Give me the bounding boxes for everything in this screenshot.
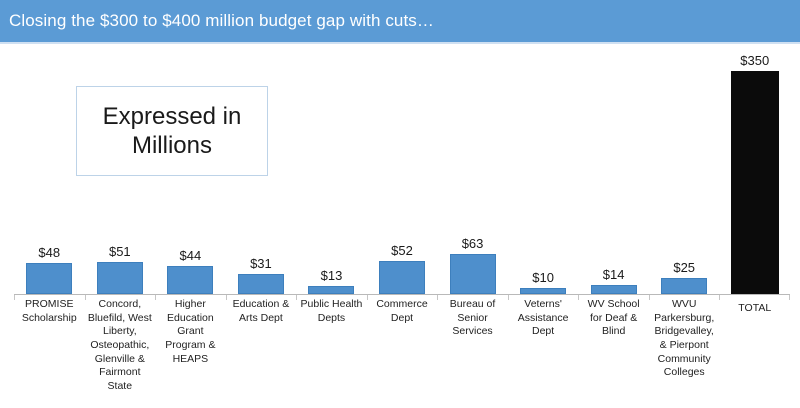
category-label-cell: WVU Parkersburg, Bridgevalley, & Pierpon… xyxy=(649,298,720,380)
bar-slot: $350 xyxy=(719,42,790,294)
bar-value-label: $10 xyxy=(532,270,554,285)
bar xyxy=(97,262,143,294)
category-label: TOTAL xyxy=(738,302,771,316)
bar xyxy=(379,261,425,294)
bar-slot: $44 xyxy=(155,42,226,294)
category-label: Education & Arts Dept xyxy=(228,298,295,325)
bar-slot: $25 xyxy=(649,42,720,294)
category-label-cell: Education & Arts Dept xyxy=(226,298,297,326)
bar-slot: $48 xyxy=(14,42,85,294)
category-label-cell: PROMISE Scholarship xyxy=(14,298,85,326)
title-banner: Closing the $300 to $400 million budget … xyxy=(0,0,800,42)
bar-slot: $51 xyxy=(85,42,156,294)
bar xyxy=(308,286,354,294)
category-label: Concord, Bluefild, West Liberty, Osteopa… xyxy=(87,298,154,393)
bar xyxy=(238,274,284,294)
category-label: Commerce Dept xyxy=(369,298,436,325)
bar xyxy=(26,263,72,294)
category-label-cell: Concord, Bluefild, West Liberty, Osteopa… xyxy=(85,298,156,394)
category-label-cell: WV School for Deaf & Blind xyxy=(578,298,649,339)
bar-value-label: $52 xyxy=(391,243,413,258)
page-title: Closing the $300 to $400 million budget … xyxy=(0,11,434,31)
bar-value-label: $31 xyxy=(250,256,272,271)
bar-series: $48$51$44$31$13$52$63$10$14$25$350 xyxy=(14,42,790,294)
bar-slot: $10 xyxy=(508,42,579,294)
category-label: Veterns' Assistance Dept xyxy=(510,298,577,339)
bar-value-label: $51 xyxy=(109,244,131,259)
bar-value-label: $48 xyxy=(38,245,60,260)
bar-value-label: $44 xyxy=(180,248,202,263)
bar-value-label: $63 xyxy=(462,236,484,251)
bar-slot: $14 xyxy=(578,42,649,294)
category-label-cell: Commerce Dept xyxy=(367,298,438,326)
category-label: Public Health Depts xyxy=(298,298,365,325)
category-label-cell: Public Health Depts xyxy=(296,298,367,326)
category-label: WV School for Deaf & Blind xyxy=(580,298,647,339)
category-label-cell: TOTAL xyxy=(719,298,790,316)
category-label: Higher Education Grant Program & HEAPS xyxy=(157,298,224,366)
bar-slot: $52 xyxy=(367,42,438,294)
bar xyxy=(167,266,213,294)
bar xyxy=(591,285,637,294)
bar-total xyxy=(731,71,779,294)
bar-value-label: $350 xyxy=(740,53,769,68)
slide-canvas: Closing the $300 to $400 million budget … xyxy=(0,0,800,408)
bar-slot: $13 xyxy=(296,42,367,294)
bar xyxy=(661,278,707,294)
bar-value-label: $13 xyxy=(321,268,343,283)
category-label-cell: Veterns' Assistance Dept xyxy=(508,298,579,339)
bar-slot: $31 xyxy=(226,42,297,294)
category-label-cell: Bureau of Senior Services xyxy=(437,298,508,339)
category-label: Bureau of Senior Services xyxy=(439,298,506,339)
category-label: WVU Parkersburg, Bridgevalley, & Pierpon… xyxy=(651,298,718,380)
bar-value-label: $14 xyxy=(603,267,625,282)
category-axis-labels: PROMISE ScholarshipConcord, Bluefild, We… xyxy=(14,298,790,394)
bar-slot: $63 xyxy=(437,42,508,294)
category-label-cell: Higher Education Grant Program & HEAPS xyxy=(155,298,226,367)
category-axis-line xyxy=(14,294,790,295)
category-label: PROMISE Scholarship xyxy=(16,298,83,325)
bar-chart: $48$51$44$31$13$52$63$10$14$25$350 PROMI… xyxy=(0,42,800,408)
bar-value-label: $25 xyxy=(673,260,695,275)
bar xyxy=(450,254,496,294)
